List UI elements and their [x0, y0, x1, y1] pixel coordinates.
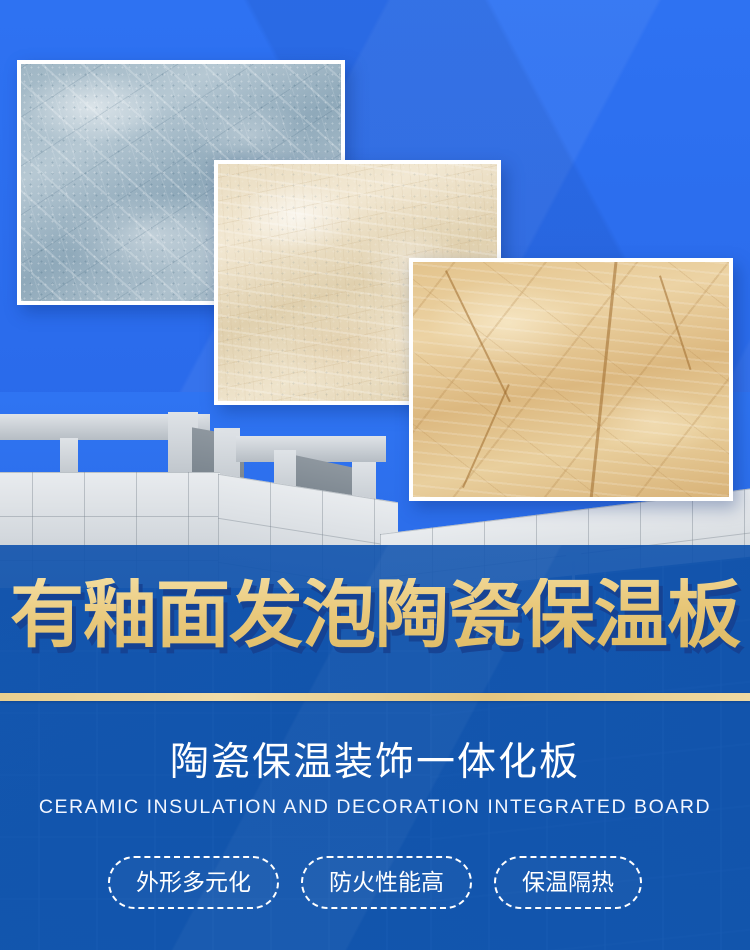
tile-sample-gold [409, 258, 733, 501]
page-title: 有釉面发泡陶瓷保温板 [0, 578, 750, 652]
tile-texture-gold [413, 262, 729, 497]
subtitle-chinese: 陶瓷保温装饰一体化板 [0, 742, 750, 785]
product-banner: 有釉面发泡陶瓷保温板 陶瓷保温装饰一体化板 CERAMIC INSULATION… [0, 0, 750, 950]
feature-badge-2[interactable]: 防火性能高 [301, 856, 472, 909]
feature-badge-1[interactable]: 外形多元化 [108, 856, 279, 909]
subtitle-english: CERAMIC INSULATION AND DECORATION INTEGR… [0, 797, 750, 818]
feature-badge-3[interactable]: 保温隔热 [494, 856, 642, 909]
feature-badge-list: 外形多元化 防火性能高 保温隔热 [0, 856, 750, 909]
gold-divider [0, 693, 750, 701]
